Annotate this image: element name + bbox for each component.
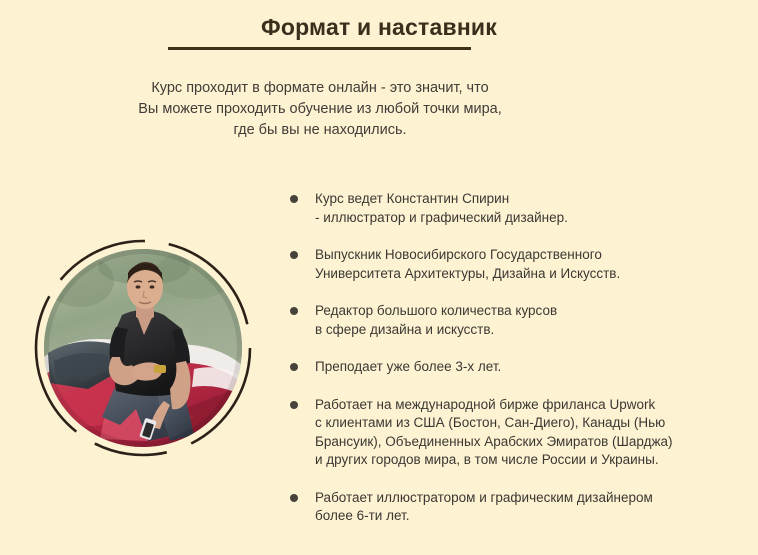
list-item-line: с клиентами из США (Бостон, Сан-Диего), … — [315, 414, 740, 433]
bullet-dot-icon — [290, 251, 298, 259]
list-item-line: Редактор большого количества курсов — [315, 302, 740, 321]
list-item-line: Работает на международной бирже фриланса… — [315, 396, 740, 415]
page-header: Формат и наставник — [0, 0, 758, 41]
list-item: Редактор большого количества курсов в сф… — [290, 302, 740, 339]
mentor-photo-graphic — [44, 249, 242, 447]
mentor-portrait — [33, 238, 253, 458]
list-item: Курс ведет Константин Спирин - иллюстрат… — [290, 190, 740, 227]
bullet-dot-icon — [290, 363, 298, 371]
bullet-dot-icon — [290, 195, 298, 203]
list-item: Работает на международной бирже фриланса… — [290, 396, 740, 470]
list-item-line: Выпускник Новосибирского Государственног… — [315, 246, 740, 265]
list-item-line: Брансуик), Объединенных Арабских Эмирато… — [315, 433, 740, 452]
list-item-line: более 6-ти лет. — [315, 507, 740, 526]
intro-line: Вы можете проходить обучение из любой то… — [0, 99, 640, 120]
intro-line: где бы вы не находились. — [0, 120, 640, 141]
list-item: Преподает уже более 3-х лет. — [290, 358, 740, 377]
intro-paragraph: Курс проходит в формате онлайн - это зна… — [0, 78, 640, 141]
mentor-photo — [44, 249, 242, 447]
list-item-line: Курс ведет Константин Спирин — [315, 190, 740, 209]
list-item-line: в сфере дизайна и искусств. — [315, 321, 740, 340]
bullet-dot-icon — [290, 307, 298, 315]
list-item: Выпускник Новосибирского Государственног… — [290, 246, 740, 283]
list-item-line: и других городов мира, в том числе Росси… — [315, 451, 740, 470]
intro-line: Курс проходит в формате онлайн - это зна… — [0, 78, 640, 99]
bullet-dot-icon — [290, 494, 298, 502]
list-item: Работает иллюстратором и графическим диз… — [290, 489, 740, 526]
list-item-line: Преподает уже более 3-х лет. — [315, 358, 740, 377]
list-item-line: - иллюстратор и графический дизайнер. — [315, 209, 740, 228]
title-underline-rule — [168, 47, 471, 50]
list-item-line: Работает иллюстратором и графическим диз… — [315, 489, 740, 508]
page-title: Формат и наставник — [0, 0, 758, 41]
mentor-facts-list: Курс ведет Константин Спирин - иллюстрат… — [290, 190, 740, 526]
bullet-dot-icon — [290, 401, 298, 409]
list-item-line: Университета Архитектуры, Дизайна и Иску… — [315, 265, 740, 284]
